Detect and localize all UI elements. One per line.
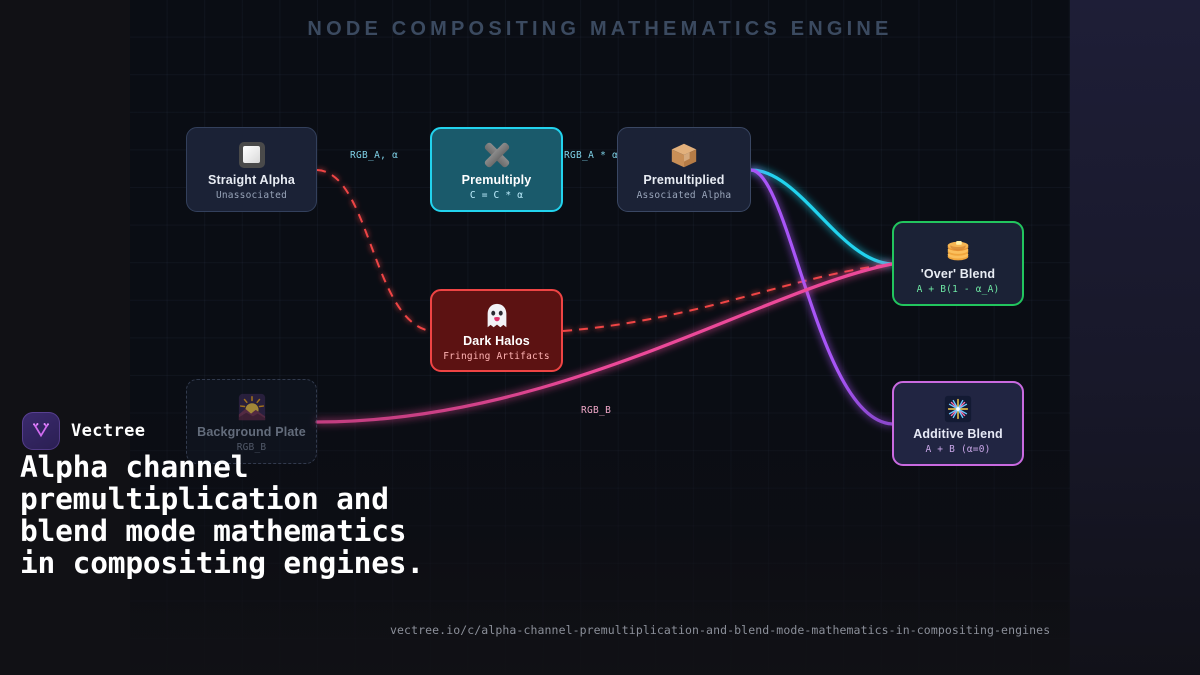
right-panel-gradient bbox=[1070, 0, 1200, 675]
edge-label-rgba-alpha: RGB_A, α bbox=[350, 150, 398, 161]
vectree-logo-icon bbox=[22, 412, 60, 450]
edge-label-rgba-times-alpha: RGB_A * α bbox=[564, 150, 618, 161]
ghost-icon bbox=[482, 300, 512, 332]
multiply-x-icon bbox=[480, 139, 514, 171]
node-subtitle: Fringing Artifacts bbox=[443, 351, 550, 362]
headline: Alpha channel premultiplication and blen… bbox=[20, 452, 440, 579]
node-dark-halos[interactable]: Dark Halos Fringing Artifacts bbox=[430, 289, 563, 372]
node-title: 'Over' Blend bbox=[921, 267, 995, 281]
node-subtitle: C = C * α bbox=[470, 190, 523, 201]
node-premultiplied[interactable]: Premultiplied Associated Alpha bbox=[617, 127, 751, 212]
article-url: vectree.io/c/alpha-channel-premultiplica… bbox=[390, 623, 1050, 637]
node-subtitle: A + B (α=0) bbox=[925, 444, 990, 455]
node-subtitle: Associated Alpha bbox=[637, 190, 732, 201]
sunrise-image-icon bbox=[237, 391, 267, 423]
brand-name: Vectree bbox=[71, 421, 145, 441]
node-title: Background Plate bbox=[197, 425, 306, 439]
node-title: Straight Alpha bbox=[208, 173, 295, 187]
white-square-icon bbox=[239, 139, 265, 171]
node-title: Premultiply bbox=[462, 173, 532, 187]
fireworks-icon bbox=[943, 393, 973, 425]
node-over-blend[interactable]: 'Over' Blend A + B(1 - α_A) bbox=[892, 221, 1024, 306]
node-title: Dark Halos bbox=[463, 334, 530, 348]
node-title: Premultiplied bbox=[643, 173, 724, 187]
node-premultiply[interactable]: Premultiply C = C * α bbox=[430, 127, 563, 212]
node-straight-alpha[interactable]: Straight Alpha Unassociated bbox=[186, 127, 317, 212]
node-subtitle: Unassociated bbox=[216, 190, 287, 201]
node-additive-blend[interactable]: Additive Blend A + B (α=0) bbox=[892, 381, 1024, 466]
edge-label-rgbb: RGB_B bbox=[581, 405, 611, 416]
node-title: Additive Blend bbox=[913, 427, 1003, 441]
slide-stage: NODE COMPOSITING MATHEMATICS ENGINE RGB_… bbox=[0, 0, 1200, 675]
brand: Vectree bbox=[22, 412, 145, 450]
pancakes-stack-icon bbox=[943, 233, 973, 265]
package-box-icon bbox=[669, 139, 699, 171]
node-subtitle: A + B(1 - α_A) bbox=[917, 284, 1000, 295]
graph-title: NODE COMPOSITING MATHEMATICS ENGINE bbox=[130, 18, 1070, 41]
